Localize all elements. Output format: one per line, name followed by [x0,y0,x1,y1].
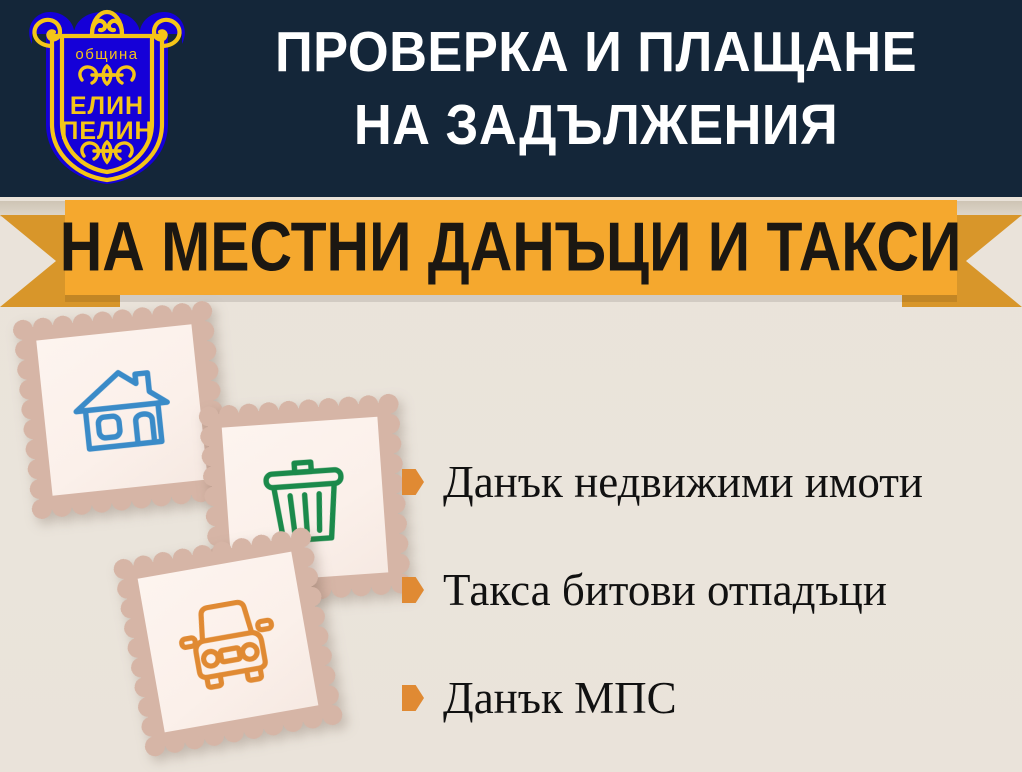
stamp-face [36,324,207,495]
ribbon-band: НА МЕСТНИ ДАНЪЦИ И ТАКСИ [65,200,957,295]
header-bar: община ЕЛИН ПЕЛИН [0,0,1022,197]
page-title: ПРОВЕРКА И ПЛАЩАНЕ НА ЗАДЪЛЖЕНИЯ [228,16,964,162]
arrow-bullet-icon [402,577,424,603]
ribbon-label: НА МЕСТНИ ДАНЪЦИ И ТАКСИ [60,208,962,288]
list-item-label: Данък МПС [443,676,677,721]
logo-label-obshtina: община [75,46,138,63]
list-item[interactable]: Данък недвижими имоти [402,428,1014,536]
list-item-label: Такса битови отпадъци [443,568,887,613]
stamp-car [112,526,344,758]
car-front-icon [168,582,288,702]
poster-root: община ЕЛИН ПЕЛИН [0,0,1022,772]
arrow-bullet-icon [402,469,424,495]
arrow-bullet-icon [402,685,424,711]
list-item[interactable]: Данък МПС [402,644,1014,752]
stamp-group [0,300,420,770]
municipality-logo: община ЕЛИН ПЕЛИН [22,4,192,194]
tax-type-list: Данък недвижими имоти Такса битови отпад… [402,428,1014,752]
house-icon [65,353,179,467]
list-item[interactable]: Такса битови отпадъци [402,536,1014,644]
ribbon-banner: НА МЕСТНИ ДАНЪЦИ И ТАКСИ [0,197,1022,315]
coat-of-arms-icon: община ЕЛИН ПЕЛИН [22,4,192,194]
stamp-face [138,552,319,733]
logo-label-line1: ЕЛИН [70,92,144,120]
list-item-label: Данък недвижими имоти [443,460,923,505]
